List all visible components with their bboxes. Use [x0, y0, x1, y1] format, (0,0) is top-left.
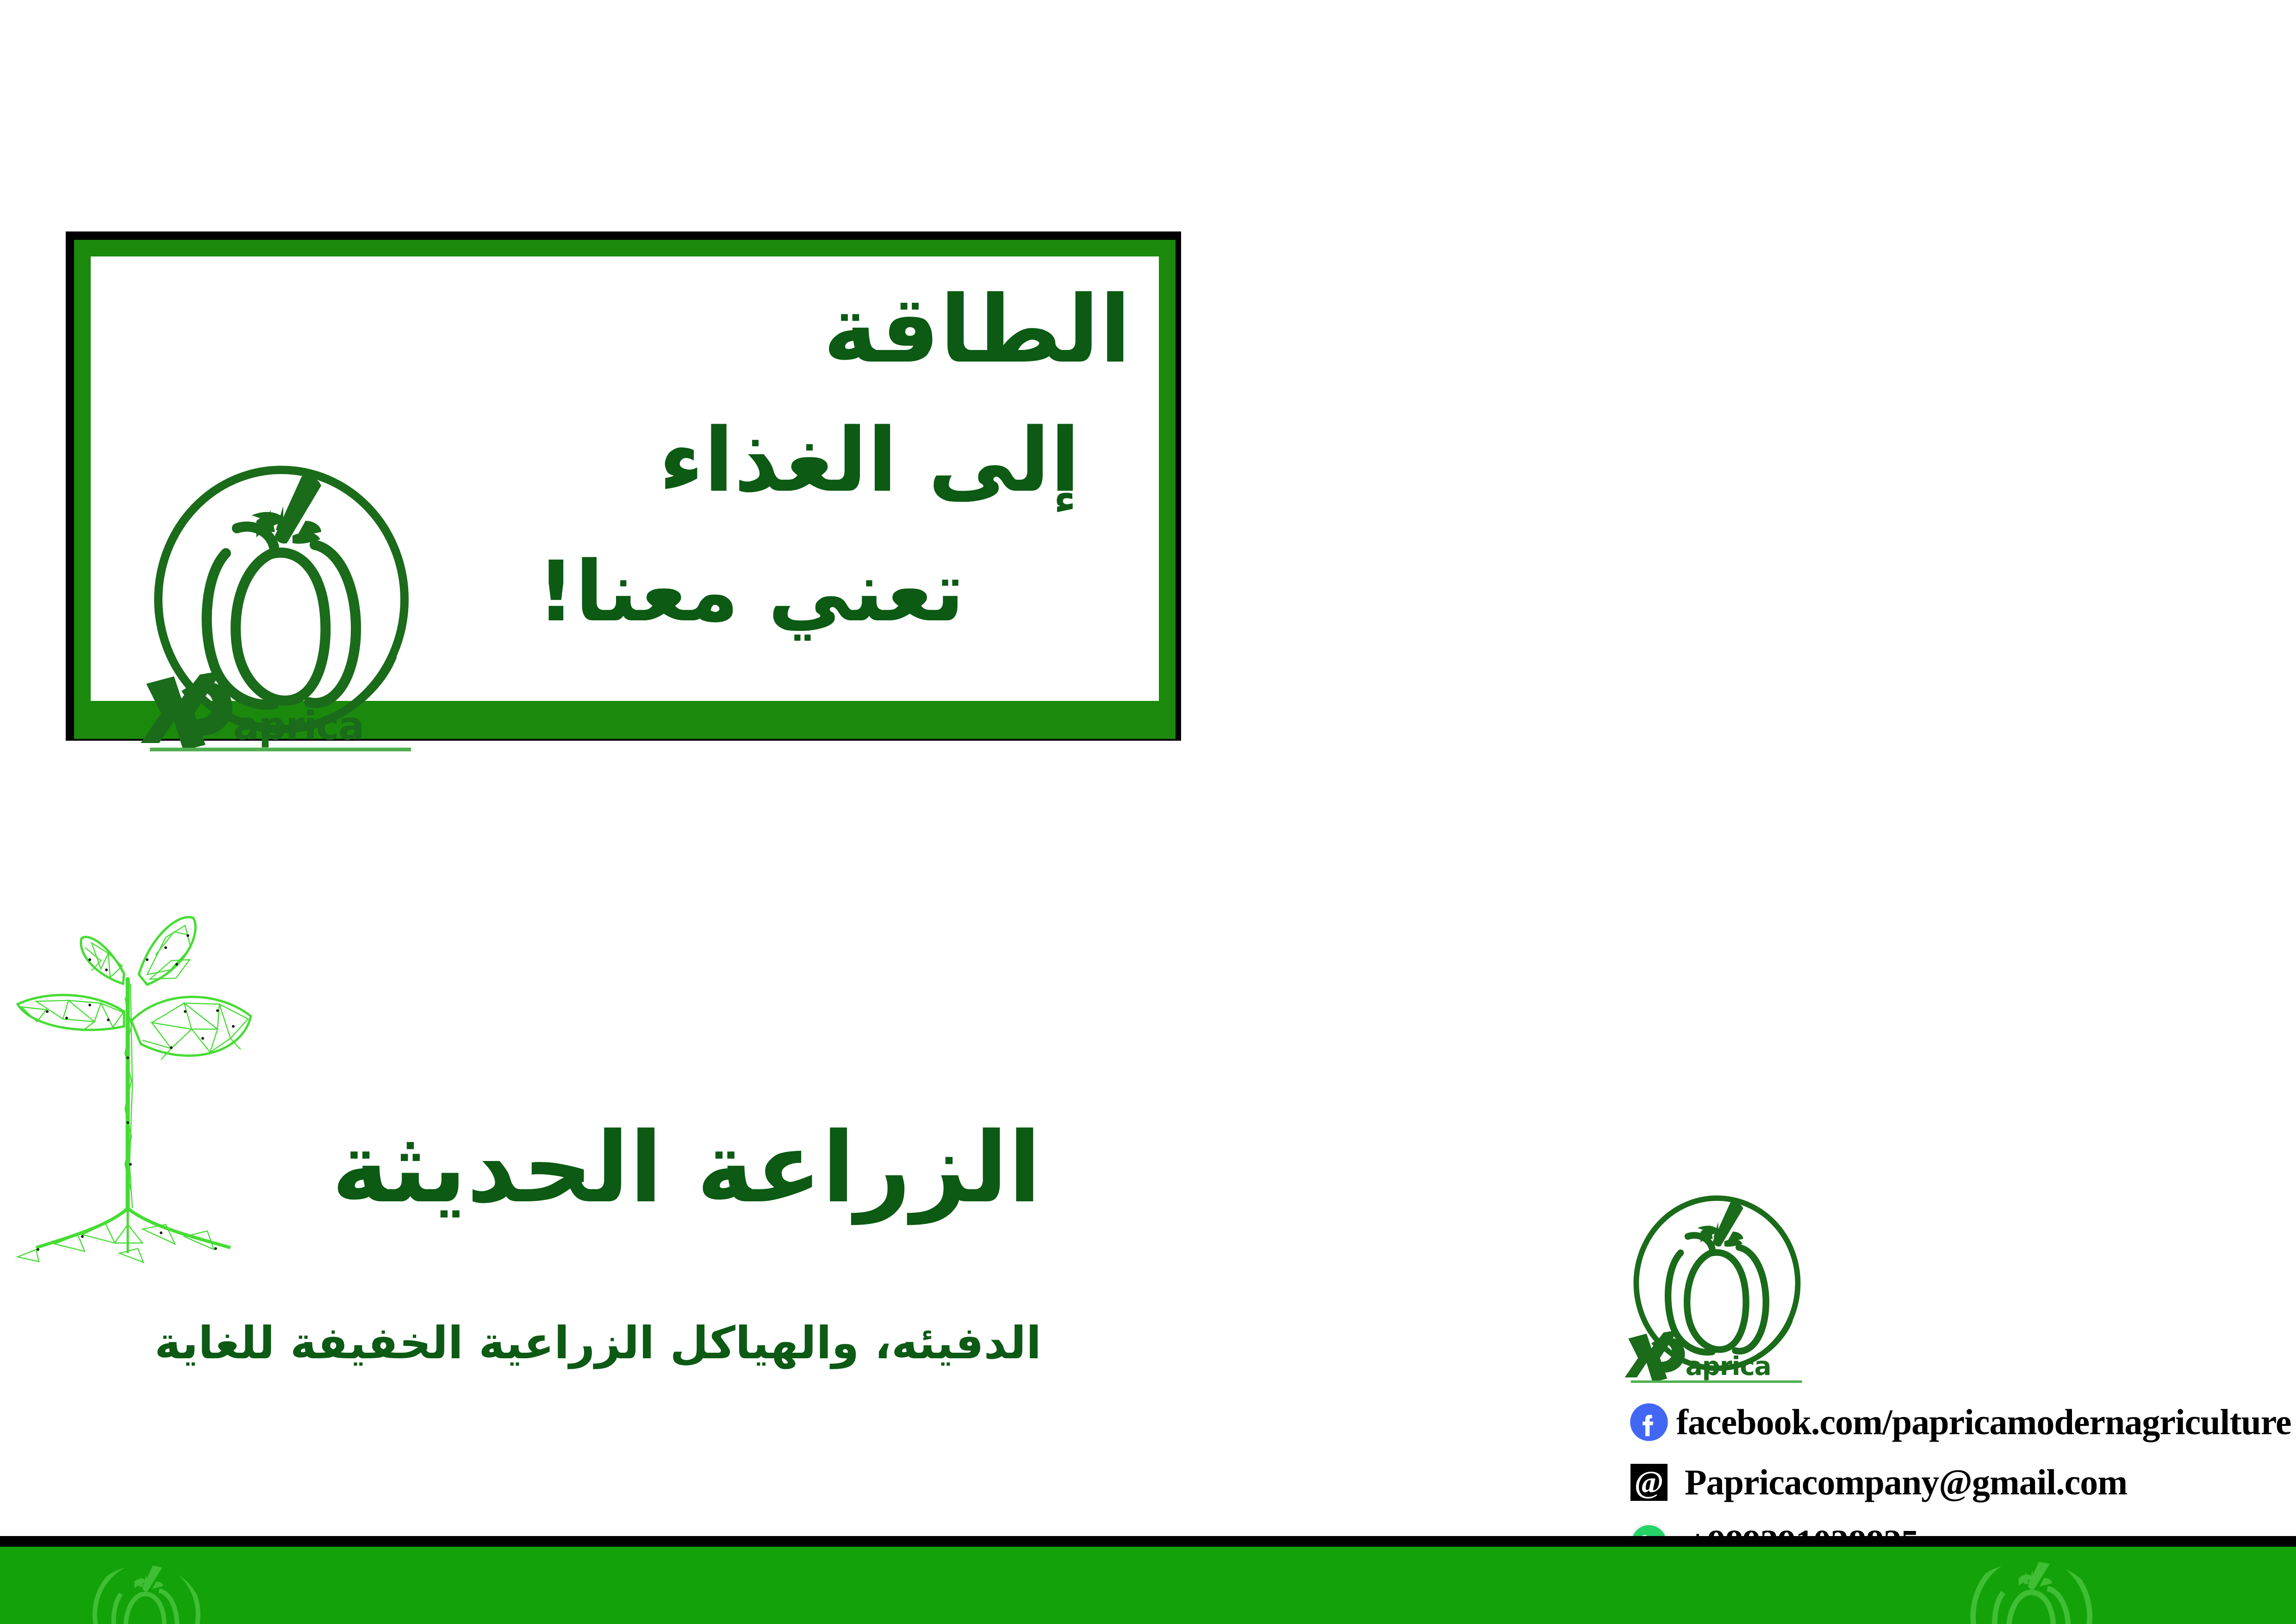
footer-green-band — [0, 1547, 2296, 1624]
page-title: الزراعة الحديثة — [153, 1111, 1041, 1224]
page-subtitle: الدفيئه، والهياكل الزراعية الخفيفة للغاي… — [116, 1317, 1041, 1369]
facebook-url: facebook.com/papricamodernagriculture — [1676, 1401, 2291, 1443]
contact-row-facebook[interactable]: facebook.com/papricamodernagriculture — [1629, 1398, 2277, 1446]
paprica-logo-top: aprica — [133, 465, 429, 752]
footer-decorative-band — [0, 1490, 2296, 1624]
paprica-logo-bottom-right: aprica — [1620, 1194, 1814, 1384]
bell-pepper-in-circle-logo: aprica — [133, 465, 429, 752]
poster-canvas: الطاقة إلى الغذاء تعني معنا! — [0, 0, 2296, 1624]
footer-band-svg — [0, 1490, 2296, 1624]
facebook-icon — [1629, 1402, 1669, 1442]
bell-pepper-in-circle-logo: aprica — [1620, 1194, 1814, 1384]
